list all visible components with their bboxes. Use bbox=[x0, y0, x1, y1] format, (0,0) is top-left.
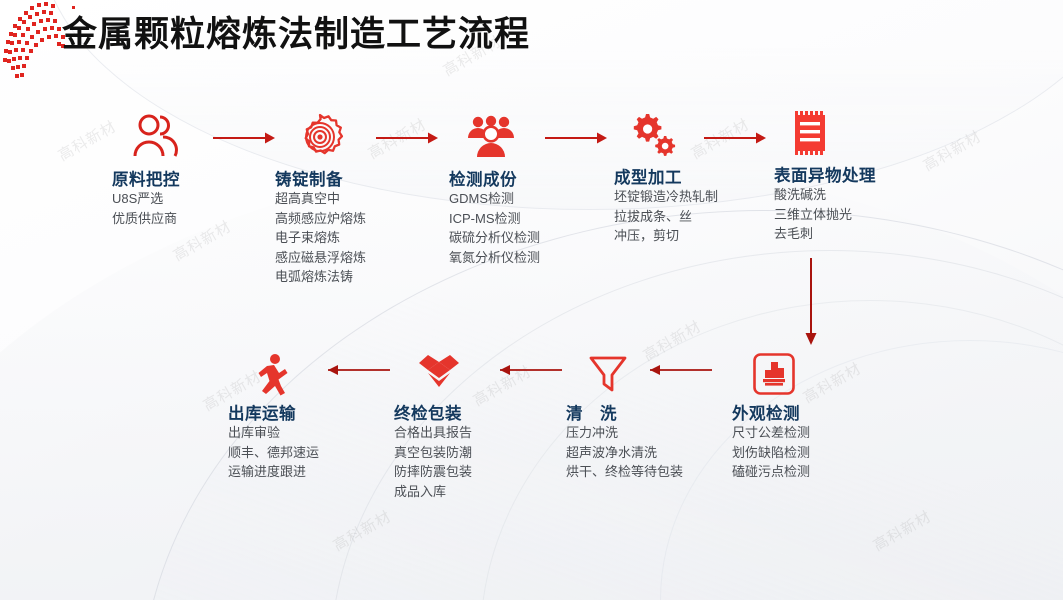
step-detail-line: 真空包装防潮 bbox=[394, 443, 472, 463]
step-details: 压力冲洗 超声波净水清洗 烘干、终检等待包装 bbox=[566, 423, 684, 482]
step-detail-line: 防摔防震包装 bbox=[394, 462, 472, 482]
step-detail-line: 碳硫分析仪检测 bbox=[449, 228, 540, 248]
step-detail-line: 超声波净水清洗 bbox=[566, 443, 684, 463]
people-group-icon bbox=[463, 112, 519, 164]
step-detail-line: 烘干、终检等待包装 bbox=[566, 462, 684, 482]
arrow-right-4 bbox=[704, 131, 766, 150]
step-details: 合格出具报告 真空包装防潮 防摔防震包装 成品入库 bbox=[394, 423, 472, 501]
step-detail-line: 三维立体抛光 bbox=[774, 205, 852, 225]
step-heading: 清 洗 bbox=[566, 400, 617, 424]
arrow-left-1 bbox=[640, 363, 712, 382]
step-heading: 外观检测 bbox=[732, 400, 800, 424]
step-details: 酸洗碱洗 三维立体抛光 去毛刺 bbox=[774, 185, 852, 244]
arrow-left-3 bbox=[318, 363, 390, 382]
step-details: 尺寸公差检测 划伤缺陷检测 磕碰污点检测 bbox=[732, 423, 810, 482]
document-lines-icon bbox=[786, 108, 842, 160]
page-title: 金属颗粒熔炼法制造工艺流程 bbox=[62, 6, 530, 57]
arrow-down-1 bbox=[803, 258, 819, 351]
step-heading: 成型加工 bbox=[614, 164, 682, 188]
step-heading: 检测成份 bbox=[449, 166, 517, 190]
step-detail-line: 超高真空中 bbox=[275, 189, 366, 209]
microscope-icon bbox=[752, 352, 808, 404]
arrow-right-2 bbox=[376, 131, 438, 150]
step-heading: 原料把控 bbox=[112, 166, 180, 190]
arrow-right-1 bbox=[213, 131, 275, 150]
gear-rings-icon bbox=[295, 112, 351, 164]
step-detail-line: 压力冲洗 bbox=[566, 423, 684, 443]
watermark: 高科新材 bbox=[169, 215, 235, 265]
step-detail-line: 顺丰、德邦速运 bbox=[228, 443, 319, 463]
step-detail-line: 去毛刺 bbox=[774, 224, 852, 244]
step-details: 出库审验 顺丰、德邦速运 运输进度跟进 bbox=[228, 423, 319, 482]
arrow-right-3 bbox=[545, 131, 607, 150]
step-details: 坯锭锻造冷热轧制 拉拔成条、丝 冲压，剪切 bbox=[614, 187, 718, 246]
step-detail-line: U8S严选 bbox=[112, 189, 177, 209]
step-detail-line: 酸洗碱洗 bbox=[774, 185, 852, 205]
step-detail-line: 合格出具报告 bbox=[394, 423, 472, 443]
open-box-icon bbox=[416, 352, 472, 404]
step-detail-line: 氧氮分析仪检测 bbox=[449, 248, 540, 268]
step-detail-line: 高频感应炉熔炼 bbox=[275, 209, 366, 229]
watermark: 高科新材 bbox=[639, 315, 705, 365]
step-detail-line: 电弧熔炼法铸 bbox=[275, 267, 366, 287]
two-people-icon bbox=[130, 112, 186, 164]
step-detail-line: 冲压，剪切 bbox=[614, 226, 718, 246]
step-detail-line: 成品入库 bbox=[394, 482, 472, 502]
watermark: 高科新材 bbox=[54, 115, 120, 165]
step-detail-line: 运输进度跟进 bbox=[228, 462, 319, 482]
step-detail-line: GDMS检测 bbox=[449, 189, 540, 209]
step-detail-line: 感应磁悬浮熔炼 bbox=[275, 248, 366, 268]
step-heading: 铸锭制备 bbox=[275, 166, 343, 190]
step-heading: 出库运输 bbox=[228, 400, 296, 424]
step-detail-line: 优质供应商 bbox=[112, 209, 177, 229]
step-detail-line: 拉拔成条、丝 bbox=[614, 207, 718, 227]
watermark: 高科新材 bbox=[329, 505, 395, 555]
step-detail-line: 出库审验 bbox=[228, 423, 319, 443]
watermark: 高科新材 bbox=[869, 505, 935, 555]
step-details: 超高真空中 高频感应炉熔炼 电子束熔炼 感应磁悬浮熔炼 电弧熔炼法铸 bbox=[275, 189, 366, 287]
step-heading: 表面异物处理 bbox=[774, 162, 876, 186]
background-swoosh-5 bbox=[660, 340, 1063, 600]
funnel-icon bbox=[586, 352, 642, 404]
arrow-left-2 bbox=[490, 363, 562, 382]
step-detail-line: 尺寸公差检测 bbox=[732, 423, 810, 443]
slide-canvas: 高科新材 高科新材 高科新材 高科新材 高科新材 高科新材 高科新材 高科新材 … bbox=[0, 0, 1063, 600]
step-detail-line: ICP-MS检测 bbox=[449, 209, 540, 229]
step-detail-line: 磕碰污点检测 bbox=[732, 462, 810, 482]
step-details: U8S严选 优质供应商 bbox=[112, 189, 177, 228]
step-detail-line: 坯锭锻造冷热轧制 bbox=[614, 187, 718, 207]
two-gears-icon bbox=[628, 110, 684, 162]
step-heading: 终检包装 bbox=[394, 400, 462, 424]
watermark: 高科新材 bbox=[799, 357, 865, 407]
step-details: GDMS检测 ICP-MS检测 碳硫分析仪检测 氧氮分析仪检测 bbox=[449, 189, 540, 267]
step-detail-line: 划伤缺陷检测 bbox=[732, 443, 810, 463]
step-detail-line: 电子束熔炼 bbox=[275, 228, 366, 248]
walking-person-icon bbox=[250, 352, 306, 404]
